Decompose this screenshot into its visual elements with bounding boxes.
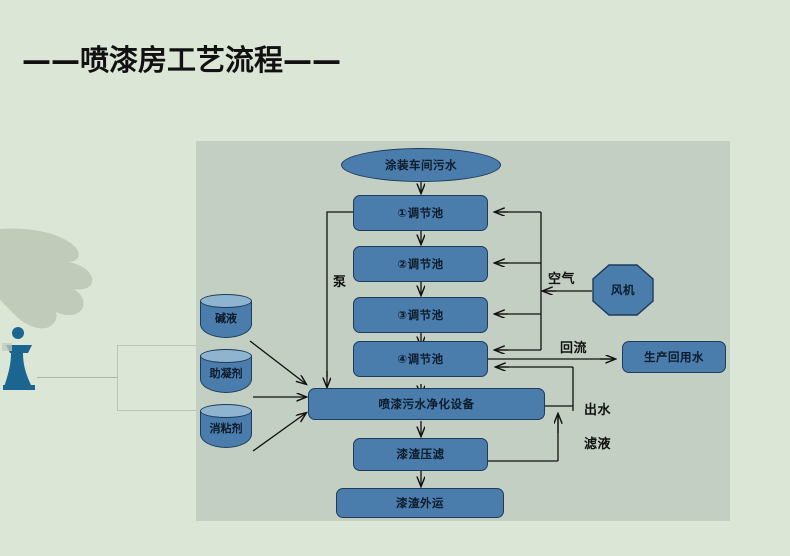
flow-label-reflux: 回流 xyxy=(560,337,587,356)
node-reuse-water[interactable]: 生产回用水 xyxy=(622,341,726,373)
node-press-filter-label: 漆渣压滤 xyxy=(397,448,445,461)
flow-label-air: 空气 xyxy=(548,268,575,287)
cylinder-top xyxy=(200,349,252,363)
node-tank-2[interactable]: ②调节池 xyxy=(353,246,488,282)
node-tank-1[interactable]: ①调节池 xyxy=(353,195,488,231)
node-residue-out[interactable]: 漆渣外运 xyxy=(336,488,504,518)
flow-label-pump: 泵 xyxy=(333,271,347,290)
node-tank-4[interactable]: ④调节池 xyxy=(353,341,488,377)
node-source[interactable]: 涂装车间污水 xyxy=(341,148,501,182)
node-blower-label: 风机 xyxy=(611,284,635,297)
cylinder-top xyxy=(200,404,252,418)
flow-label-filtrate: 滤液 xyxy=(584,433,611,452)
node-tank-3-label: ③调节池 xyxy=(397,309,443,322)
node-residue-out-label: 漆渣外运 xyxy=(396,497,444,510)
decorative-connector-line xyxy=(37,377,118,378)
node-tank-4-label: ④调节池 xyxy=(397,353,443,366)
cylinder-coagulant-aid[interactable]: 助凝剂 xyxy=(200,349,252,399)
node-source-label: 涂装车间污水 xyxy=(385,159,457,172)
node-tank-1-label: ①调节池 xyxy=(397,207,443,220)
cylinder-detackifier-label: 消粘剂 xyxy=(200,420,252,436)
slide-title: ——喷漆房工艺流程—— xyxy=(22,46,341,75)
cylinder-coagulant-aid-label: 助凝剂 xyxy=(200,365,252,381)
chess-queen-icon xyxy=(2,325,44,391)
slide-canvas: ——喷漆房工艺流程—— xyxy=(0,0,790,556)
node-tank-3[interactable]: ③调节池 xyxy=(353,297,488,333)
decorative-rectangle xyxy=(117,345,198,411)
cylinder-detackifier[interactable]: 消粘剂 xyxy=(200,404,252,454)
hand-silhouette-icon xyxy=(0,218,118,348)
node-reuse-water-label: 生产回用水 xyxy=(644,351,704,364)
node-purifier[interactable]: 喷漆污水净化设备 xyxy=(308,388,545,420)
node-purifier-label: 喷漆污水净化设备 xyxy=(379,398,475,411)
process-flow-diagram: 涂装车间污水 ①调节池 ②调节池 ③调节池 ④调节池 风机 生产回用水 喷漆污水… xyxy=(196,141,730,521)
slide-title-text: ——喷漆房工艺流程—— xyxy=(22,46,341,75)
node-blower[interactable]: 风机 xyxy=(592,264,654,316)
cylinder-alkali[interactable]: 碱液 xyxy=(200,294,252,344)
cylinder-top xyxy=(200,294,252,308)
cylinder-alkali-label: 碱液 xyxy=(200,310,252,326)
node-tank-2-label: ②调节池 xyxy=(397,258,443,271)
node-press-filter[interactable]: 漆渣压滤 xyxy=(353,438,488,471)
flow-label-effluent: 出水 xyxy=(584,399,611,418)
